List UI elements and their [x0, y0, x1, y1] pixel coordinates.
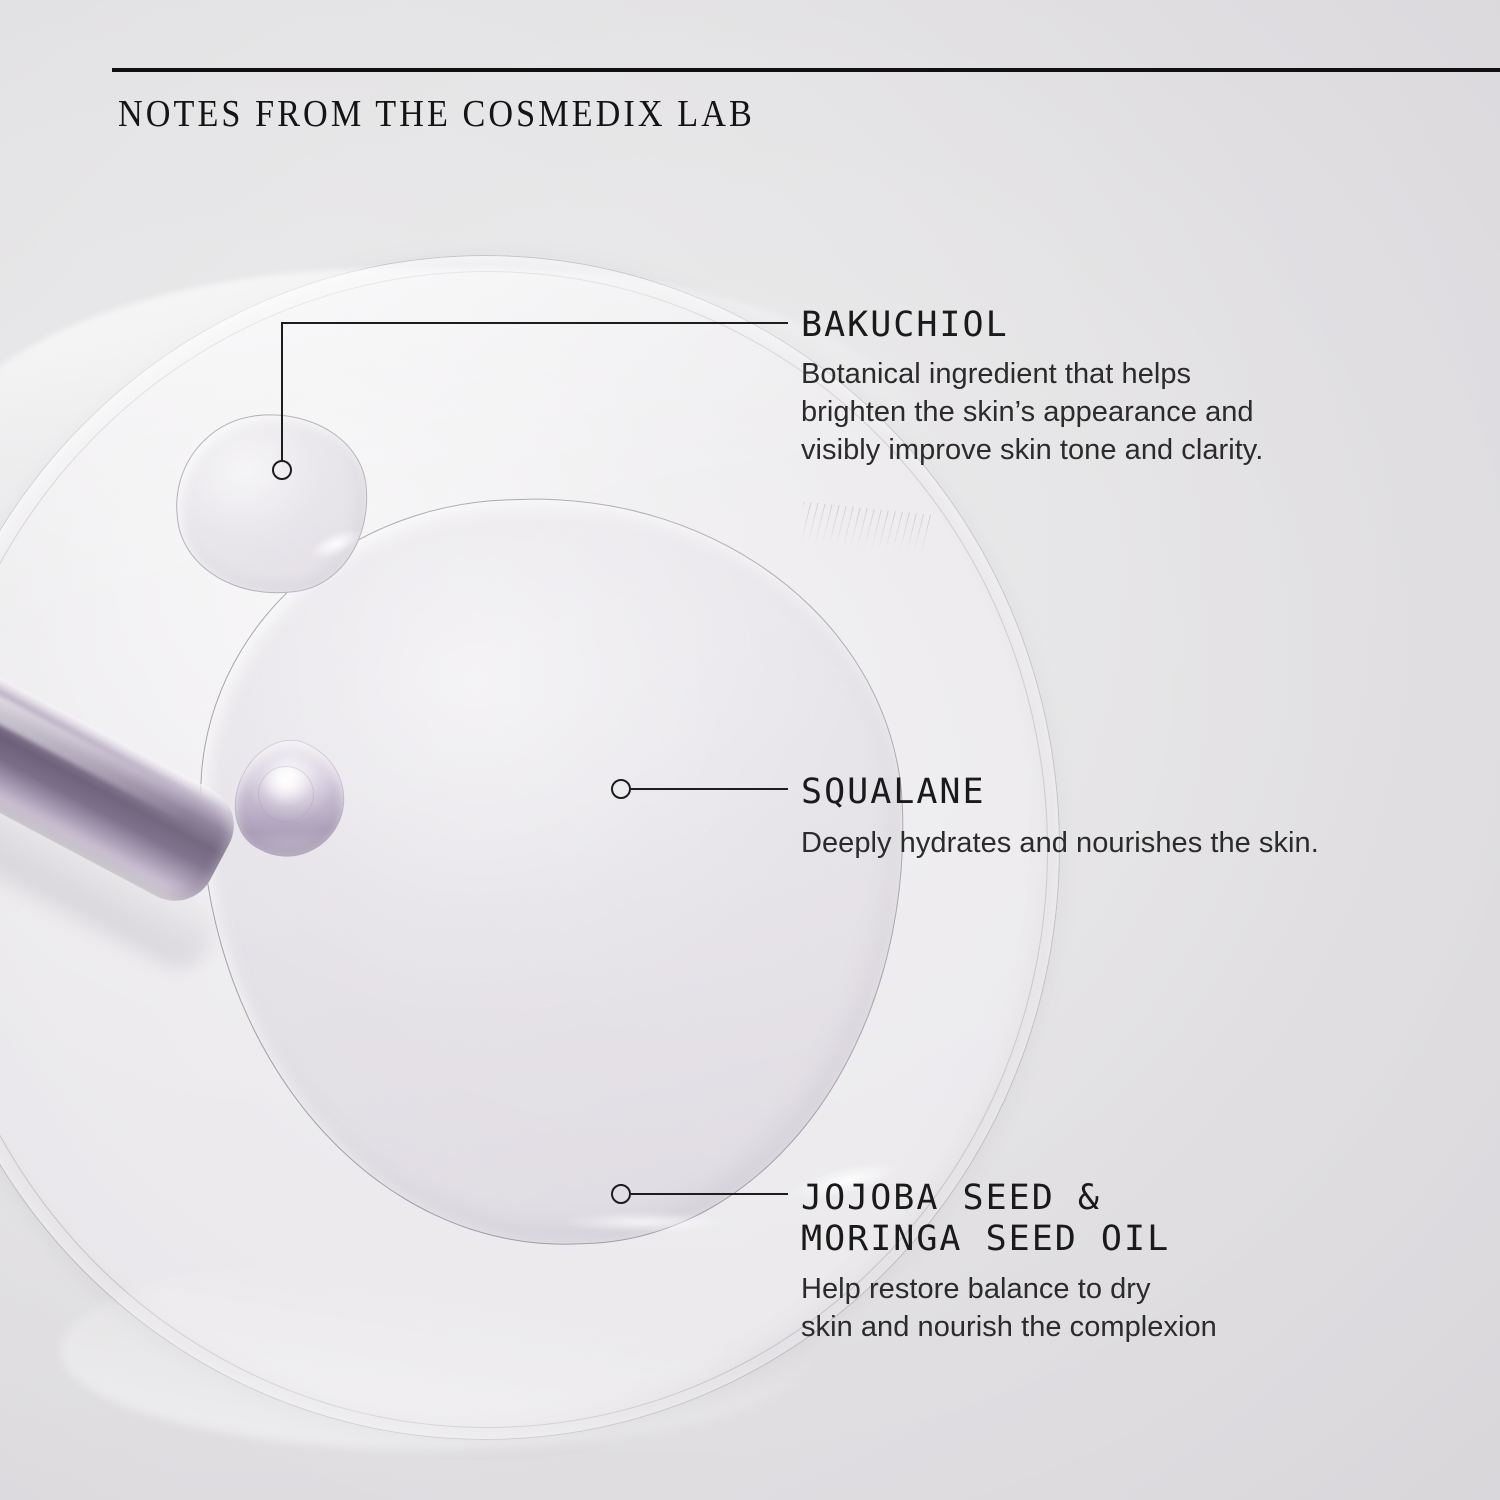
leader-segment-horizontal-jojoba	[631, 1193, 788, 1195]
header-divider-rule	[112, 68, 1500, 72]
leader-segment-vertical-bakuchiol	[281, 322, 283, 462]
callout-body-line: visibly improve skin tone and clarity.	[801, 432, 1263, 470]
callout-body-line: skin and nourish the complexion	[801, 1309, 1217, 1347]
callout-title-squalane: SQUALANE	[801, 772, 1319, 813]
leader-dot-squalane	[611, 779, 631, 799]
callout-body-line: Deeply hydrates and nourishes the skin.	[801, 825, 1319, 863]
callout-body-squalane: Deeply hydrates and nourishes the skin.	[801, 825, 1319, 863]
background-vignette	[0, 0, 1500, 1500]
leader-segment-horizontal-bakuchiol	[281, 322, 788, 324]
page-title: NOTES FROM THE COSMEDIX LAB	[118, 92, 755, 136]
callout-bakuchiol: BAKUCHIOL Botanical ingredient that help…	[801, 305, 1263, 470]
product-ingredient-infographic: NOTES FROM THE COSMEDIX LAB BAKUCHIOL Bo…	[0, 0, 1500, 1500]
callout-title-jojoba-line-2: MORINGA SEED OIL	[801, 1219, 1217, 1260]
leader-dot-jojoba	[611, 1184, 631, 1204]
callout-title-bakuchiol: BAKUCHIOL	[801, 305, 1263, 346]
callout-jojoba: JOJOBA SEED & MORINGA SEED OIL Help rest…	[801, 1178, 1217, 1347]
callout-body-line: Botanical ingredient that helps	[801, 356, 1263, 394]
callout-body-jojoba: Help restore balance to dry skin and nou…	[801, 1271, 1217, 1347]
callout-squalane: SQUALANE Deeply hydrates and nourishes t…	[801, 772, 1319, 863]
callout-body-line: Help restore balance to dry	[801, 1271, 1217, 1309]
callout-title-jojoba-line-1: JOJOBA SEED &	[801, 1178, 1217, 1219]
leader-dot-bakuchiol	[272, 460, 292, 480]
leader-segment-horizontal-squalane	[631, 788, 788, 790]
callout-body-line: brighten the skin’s appearance and	[801, 394, 1263, 432]
callout-body-bakuchiol: Botanical ingredient that helps brighten…	[801, 356, 1263, 470]
